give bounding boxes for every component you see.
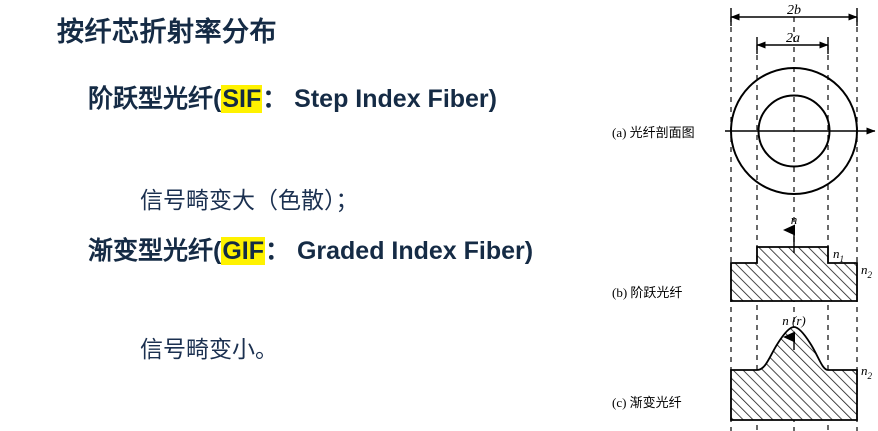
bullet-gif-highlight: GIF [221,237,265,265]
bullet-item-gif: 渐变型光纤(GIF： Graded Index Fiber) [88,236,588,267]
label-axis-n: n [791,212,798,227]
label-clad-index-n2-b: n2 [861,262,873,280]
label-core-index-n1: n1 [833,246,844,264]
slide-text-column: 按纤芯折射率分布 阶跃型光纤(SIF： Step Index Fiber) 信号… [0,0,600,431]
panel-c-graded-index-profile: n (r) n2 [731,313,873,420]
bullet-gif-subtext: 信号畸变小。 [140,330,278,364]
bullet-sif-subtext: 信号畸变大（色散）； [140,181,359,215]
page-title: 按纤芯折射率分布 [57,10,277,49]
panel-b-step-index-profile: n n1 n2 [731,212,873,301]
label-outer-diameter: 2b [787,3,801,18]
bullet-gif-prefix: 渐变型光纤( [88,237,221,265]
bullet-sif-highlight: SIF [221,85,262,113]
figure-svg: 2b 2a n n1 [600,0,878,431]
slide-root: 按纤芯折射率分布 阶跃型光纤(SIF： Step Index Fiber) 信号… [0,0,878,431]
bullet-sif-prefix: 阶跃型光纤( [88,85,221,113]
bullet-item-sif: 阶跃型光纤(SIF： Step Index Fiber) [88,84,558,115]
label-core-diameter: 2a [786,31,800,46]
panel-a-cross-section: 2b 2a [725,3,875,194]
label-axis-nr: n (r) [782,313,805,328]
bullet-gif-suffix: ： Graded Index Fiber) [265,237,533,265]
fiber-index-profile-figure: (a) 光纤剖面图 (b) 阶跃光纤 (c) 渐变光纤 [600,0,878,431]
label-clad-index-n2-c: n2 [861,363,873,381]
bullet-sif-suffix: ： Step Index Fiber) [262,85,497,113]
